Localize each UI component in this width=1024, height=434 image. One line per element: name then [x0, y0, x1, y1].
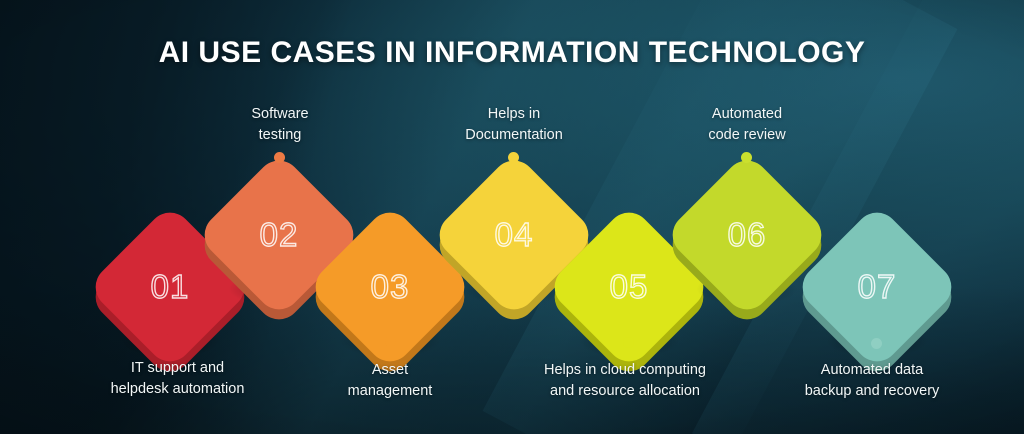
connector-dot-05: [623, 337, 634, 348]
step-label-03-line2: management: [290, 381, 490, 402]
step-diamond-04[interactable]: 04: [455, 176, 573, 294]
diamond-number: 04: [455, 176, 573, 294]
connector-dot-07: [871, 338, 882, 349]
step-label-05-line2: and resource allocation: [505, 381, 745, 402]
connector-dot-04: [508, 152, 519, 163]
step-diamond-03[interactable]: 03: [331, 228, 449, 346]
diamond-number: 03: [331, 228, 449, 346]
diamond-number: 06: [688, 176, 806, 294]
step-label-01-line2: helpdesk automation: [50, 379, 305, 400]
diamond-number: 07: [818, 228, 936, 346]
step-label-04-line2: Documentation: [414, 125, 614, 146]
infographic-canvas: AI USE CASES IN INFORMATION TECHNOLOGY 0…: [0, 0, 1024, 434]
step-label-03-line1: Asset: [290, 360, 490, 381]
diamond-number: 05: [570, 228, 688, 346]
step-diamond-06[interactable]: 06: [688, 176, 806, 294]
step-label-05: Helps in cloud computing and resource al…: [505, 360, 745, 402]
step-label-07-line2: backup and recovery: [757, 381, 987, 402]
step-label-04: Helps in Documentation: [414, 104, 614, 146]
step-diamond-05[interactable]: 05: [570, 228, 688, 346]
connector-dot-01: [158, 333, 169, 344]
step-label-06-line1: Automated: [647, 104, 847, 125]
step-label-03: Asset management: [290, 360, 490, 402]
step-label-06: Automated code review: [647, 104, 847, 146]
step-label-01: IT support and helpdesk automation: [50, 358, 305, 400]
step-label-04-line1: Helps in: [414, 104, 614, 125]
step-label-06-line2: code review: [647, 125, 847, 146]
step-label-02-line2: testing: [180, 125, 380, 146]
connector-dot-02: [274, 152, 285, 163]
step-diamond-07[interactable]: 07: [818, 228, 936, 346]
step-label-05-line1: Helps in cloud computing: [505, 360, 745, 381]
connector-dot-03: [385, 336, 396, 347]
page-title: AI USE CASES IN INFORMATION TECHNOLOGY: [0, 36, 1024, 70]
step-label-01-line1: IT support and: [50, 358, 305, 379]
step-label-07-line1: Automated data: [757, 360, 987, 381]
step-label-02: Software testing: [180, 104, 380, 146]
step-label-02-line1: Software: [180, 104, 380, 125]
connector-dot-06: [741, 152, 752, 163]
step-label-07: Automated data backup and recovery: [757, 360, 987, 402]
